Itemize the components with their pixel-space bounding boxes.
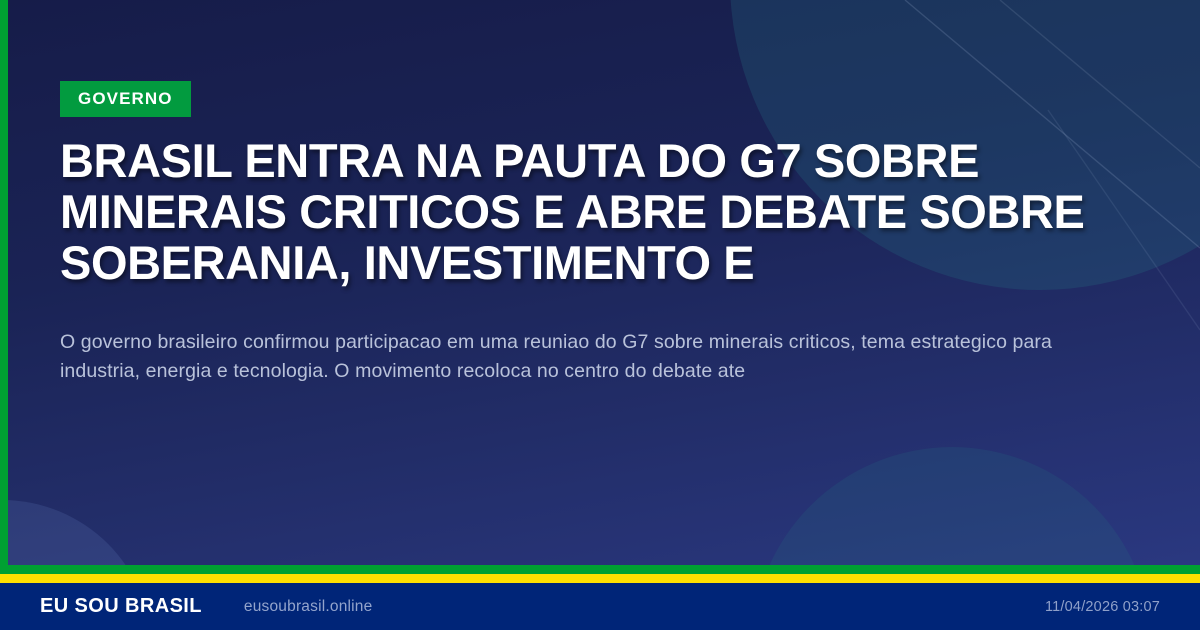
brand-name: EU SOU BRASIL <box>40 595 202 618</box>
share-card: GOVERNO Brasil entra na pauta do G7 sobr… <box>0 0 1200 630</box>
decorative-circle-bottom-center <box>752 447 1152 565</box>
card-footer: EU SOU BRASIL eusoubrasil.online 11/04/2… <box>0 583 1200 630</box>
card-content: GOVERNO Brasil entra na pauta do G7 sobr… <box>0 0 1200 386</box>
timestamp: 11/04/2026 03:07 <box>1045 599 1160 615</box>
headline-title: Brasil entra na pauta do G7 sobre minera… <box>60 136 1120 288</box>
flag-stripe-green <box>0 565 1200 574</box>
left-accent-bar <box>0 0 8 565</box>
hero-section: GOVERNO Brasil entra na pauta do G7 sobr… <box>0 0 1200 565</box>
site-url[interactable]: eusoubrasil.online <box>244 598 373 616</box>
flag-stripe-yellow <box>0 574 1200 583</box>
decorative-circle-bottom-left <box>0 500 152 565</box>
excerpt-text: O governo brasileiro confirmou participa… <box>60 328 1060 386</box>
category-badge: GOVERNO <box>60 81 191 117</box>
